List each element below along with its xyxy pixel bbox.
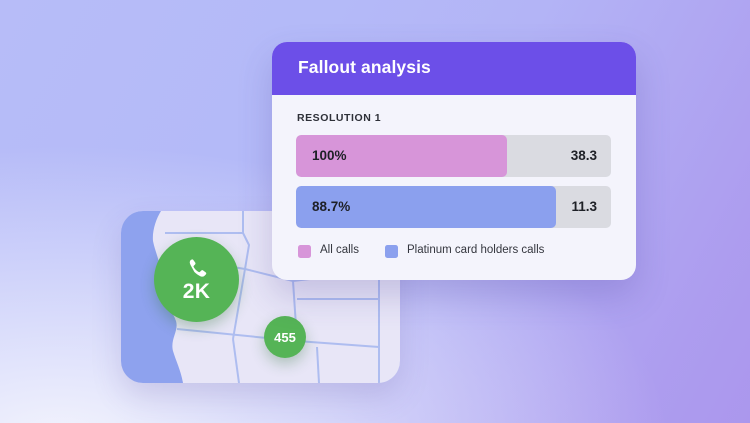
legend-label-all-calls: All calls bbox=[320, 245, 359, 257]
page-title: Fallout analysis bbox=[298, 59, 610, 77]
bar-percent-all-calls: 100% bbox=[296, 148, 347, 163]
legend-swatch-icon bbox=[385, 245, 398, 258]
legend-item-platinum-calls[interactable]: Platinum card holders calls bbox=[385, 245, 544, 258]
map-marker-2k[interactable]: 2K bbox=[154, 237, 239, 322]
bar-percent-platinum-calls: 88.7% bbox=[296, 199, 350, 214]
fallout-analysis-card[interactable]: Fallout analysis RESOLUTION 1 100% 38.3 … bbox=[272, 42, 636, 280]
panel-header: Fallout analysis bbox=[272, 42, 636, 95]
legend-label-platinum-calls: Platinum card holders calls bbox=[407, 245, 544, 257]
bar-row-all-calls[interactable]: 100% 38.3 bbox=[296, 135, 611, 177]
legend-item-all-calls[interactable]: All calls bbox=[298, 245, 359, 258]
bar-value-platinum-calls: 11.3 bbox=[571, 199, 611, 214]
bar-row-platinum-calls[interactable]: 88.7% 11.3 bbox=[296, 186, 611, 228]
phone-icon bbox=[185, 257, 208, 280]
screenshot-stage: 2K 455 Fallout analysis RESOLUTION 1 100… bbox=[0, 0, 750, 423]
section-label: RESOLUTION 1 bbox=[297, 112, 611, 124]
bar-value-all-calls: 38.3 bbox=[571, 148, 611, 163]
map-marker-2k-label: 2K bbox=[183, 281, 210, 302]
map-marker-455[interactable]: 455 bbox=[264, 316, 306, 358]
legend-swatch-icon bbox=[298, 245, 311, 258]
chart-legend: All calls Platinum card holders calls bbox=[296, 245, 611, 258]
panel-body: RESOLUTION 1 100% 38.3 88.7% 11.3 All ca… bbox=[272, 95, 636, 280]
map-marker-455-label: 455 bbox=[274, 331, 296, 344]
